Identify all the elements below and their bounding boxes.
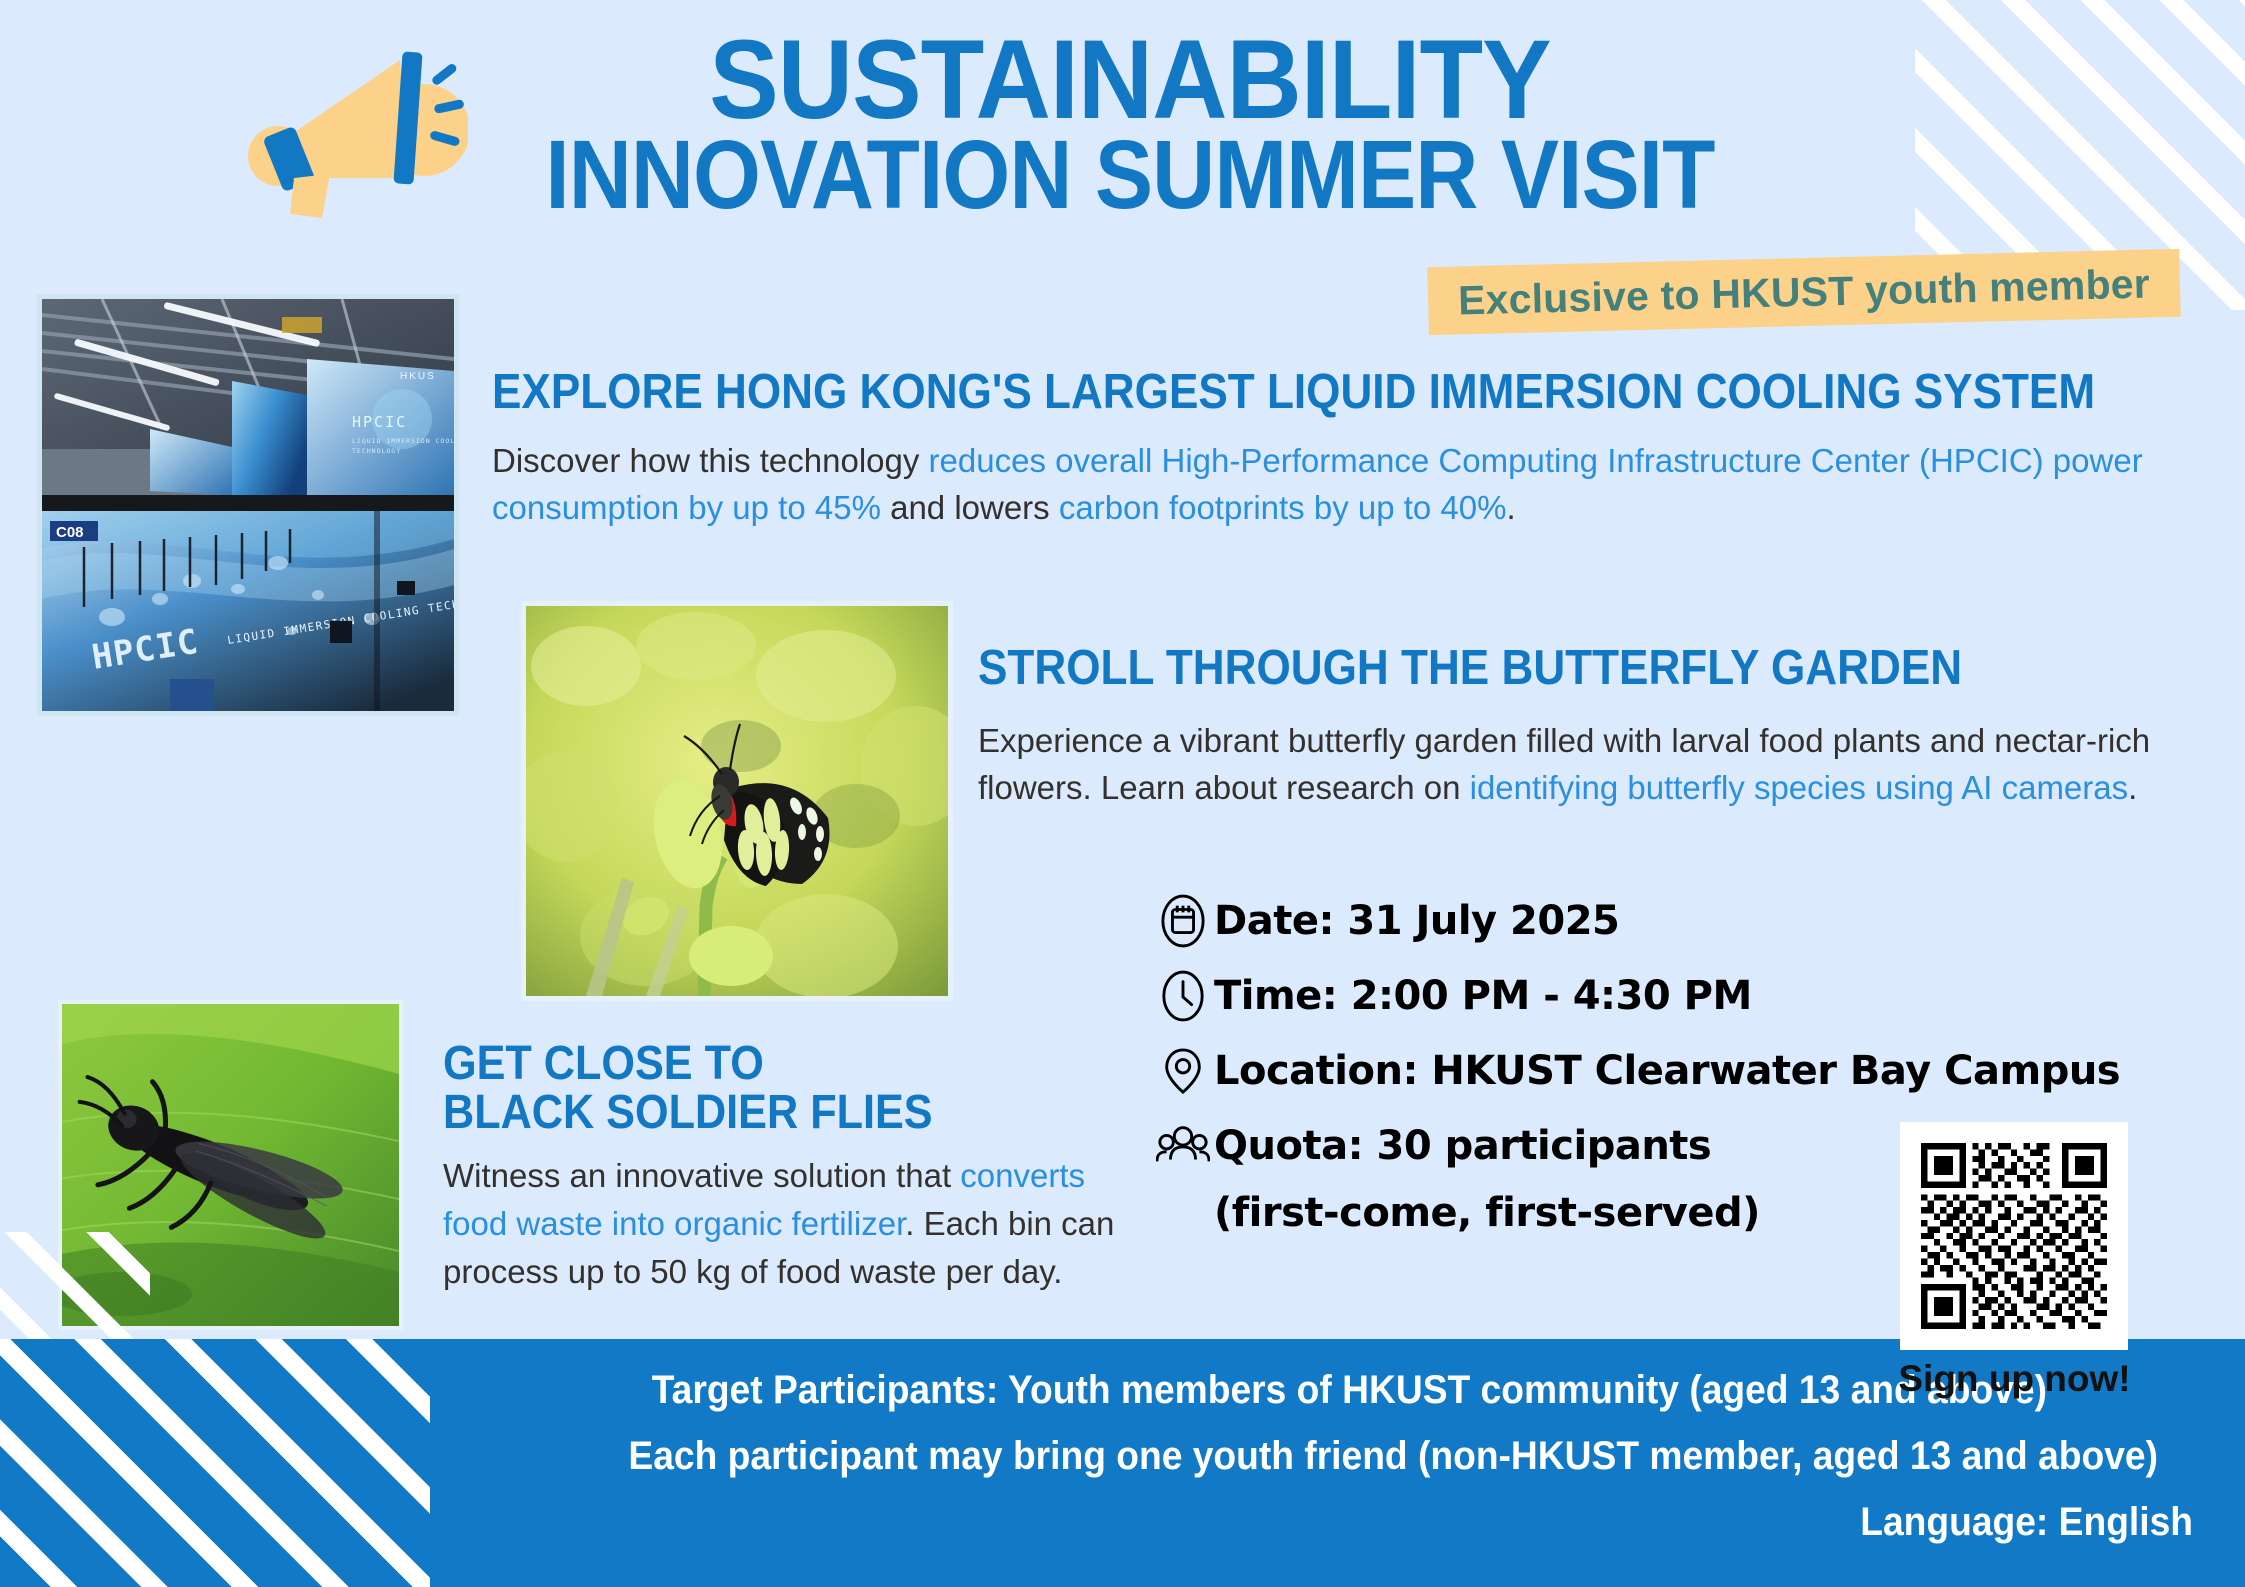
svg-text:HKUS: HKUS xyxy=(400,371,436,382)
body-highlight-text: carbon footprints by up to 40% xyxy=(1059,489,1507,526)
signup-qr-code[interactable] xyxy=(1900,1122,2128,1350)
section-bsf-heading-line-2: BLACK SOLDIER FLIES xyxy=(443,1089,1073,1138)
detail-row-time: Time: 2:00 PM - 4:30 PM xyxy=(1152,965,2152,1027)
detail-row-location: Location: HKUST Clearwater Bay Campus xyxy=(1152,1040,2152,1102)
section-butterfly-heading: STROLL THROUGH THE BUTTERFLY GARDEN xyxy=(978,640,2085,696)
poster-title: SUSTAINABILITY INNOVATION SUMMER VISIT xyxy=(480,28,1780,222)
detail-time-label: Time: 2:00 PM - 4:30 PM xyxy=(1214,973,1752,1019)
section-hpcic-body: Discover how this technology reduces ove… xyxy=(492,438,2202,532)
detail-location-label: Location: HKUST Clearwater Bay Campus xyxy=(1214,1048,2120,1094)
detail-row-date: Date: 31 July 2025 xyxy=(1152,890,2152,952)
detail-date-label: Date: 31 July 2025 xyxy=(1214,898,1619,944)
title-line-1: SUSTAINABILITY xyxy=(526,28,1735,131)
footer-line-3: Language: English xyxy=(593,1501,2193,1543)
body-plain-text: . xyxy=(2128,769,2137,806)
section-butterfly: STROLL THROUGH THE BUTTERFLY GARDEN Expe… xyxy=(978,640,2208,812)
svg-text:TECHNOLOGY: TECHNOLOGY xyxy=(352,447,401,455)
calendar-icon xyxy=(1152,890,1214,952)
title-line-2: INNOVATION SUMMER VISIT xyxy=(545,127,1715,222)
svg-text:HPCIC: HPCIC xyxy=(352,413,407,431)
poster-canvas: SUSTAINABILITY INNOVATION SUMMER VISIT E… xyxy=(0,0,2245,1587)
clock-icon xyxy=(1152,965,1214,1027)
section-bsf-heading-line-1: GET CLOSE TO xyxy=(443,1040,1073,1089)
section-butterfly-body: Experience a vibrant butterfly garden fi… xyxy=(978,718,2203,812)
section-hpcic: EXPLORE HONG KONG'S LARGEST LIQUID IMMER… xyxy=(492,364,1912,532)
section-black-soldier-flies: GET CLOSE TO BLACK SOLDIER FLIES Witness… xyxy=(443,1040,1143,1295)
black-soldier-fly-photo xyxy=(58,1000,403,1330)
signup-caption: Sign up now! xyxy=(1882,1358,2147,1400)
body-plain-text: Discover how this technology xyxy=(492,442,929,479)
svg-text:LIQUID IMMERSION COOLING: LIQUID IMMERSION COOLING xyxy=(352,437,454,445)
people-group-icon xyxy=(1152,1115,1214,1177)
body-plain-text: Witness an innovative solution that xyxy=(443,1157,960,1194)
diagonal-stripes-bottom-left xyxy=(0,1339,430,1587)
section-bsf-heading: GET CLOSE TO BLACK SOLDIER FLIES xyxy=(443,1040,1073,1138)
detail-quota-label: Quota: 30 participants xyxy=(1214,1123,1711,1169)
section-bsf-body: Witness an innovative solution that conv… xyxy=(443,1152,1133,1296)
section-hpcic-heading: EXPLORE HONG KONG'S LARGEST LIQUID IMMER… xyxy=(492,364,1770,420)
megaphone-icon xyxy=(248,38,468,218)
footer-line-2: Each participant may bring one youth fri… xyxy=(593,1435,2193,1477)
location-pin-icon xyxy=(1152,1040,1214,1102)
body-highlight-text: identifying butterfly species using AI c… xyxy=(1470,769,2129,806)
butterfly-photo xyxy=(521,601,953,1001)
body-plain-text: . xyxy=(1506,489,1515,526)
qr-code-icon xyxy=(1921,1143,2107,1329)
exclusivity-badge-label: Exclusive to HKUST youth member xyxy=(1458,260,2151,324)
body-plain-text: and lowers xyxy=(881,489,1059,526)
exclusivity-badge: Exclusive to HKUST youth member xyxy=(1427,249,2180,335)
svg-text:C08: C08 xyxy=(56,524,84,541)
hpcic-photo: HPCIC LIQUID IMMERSION COOLING TECHNOLOG… xyxy=(37,294,459,716)
